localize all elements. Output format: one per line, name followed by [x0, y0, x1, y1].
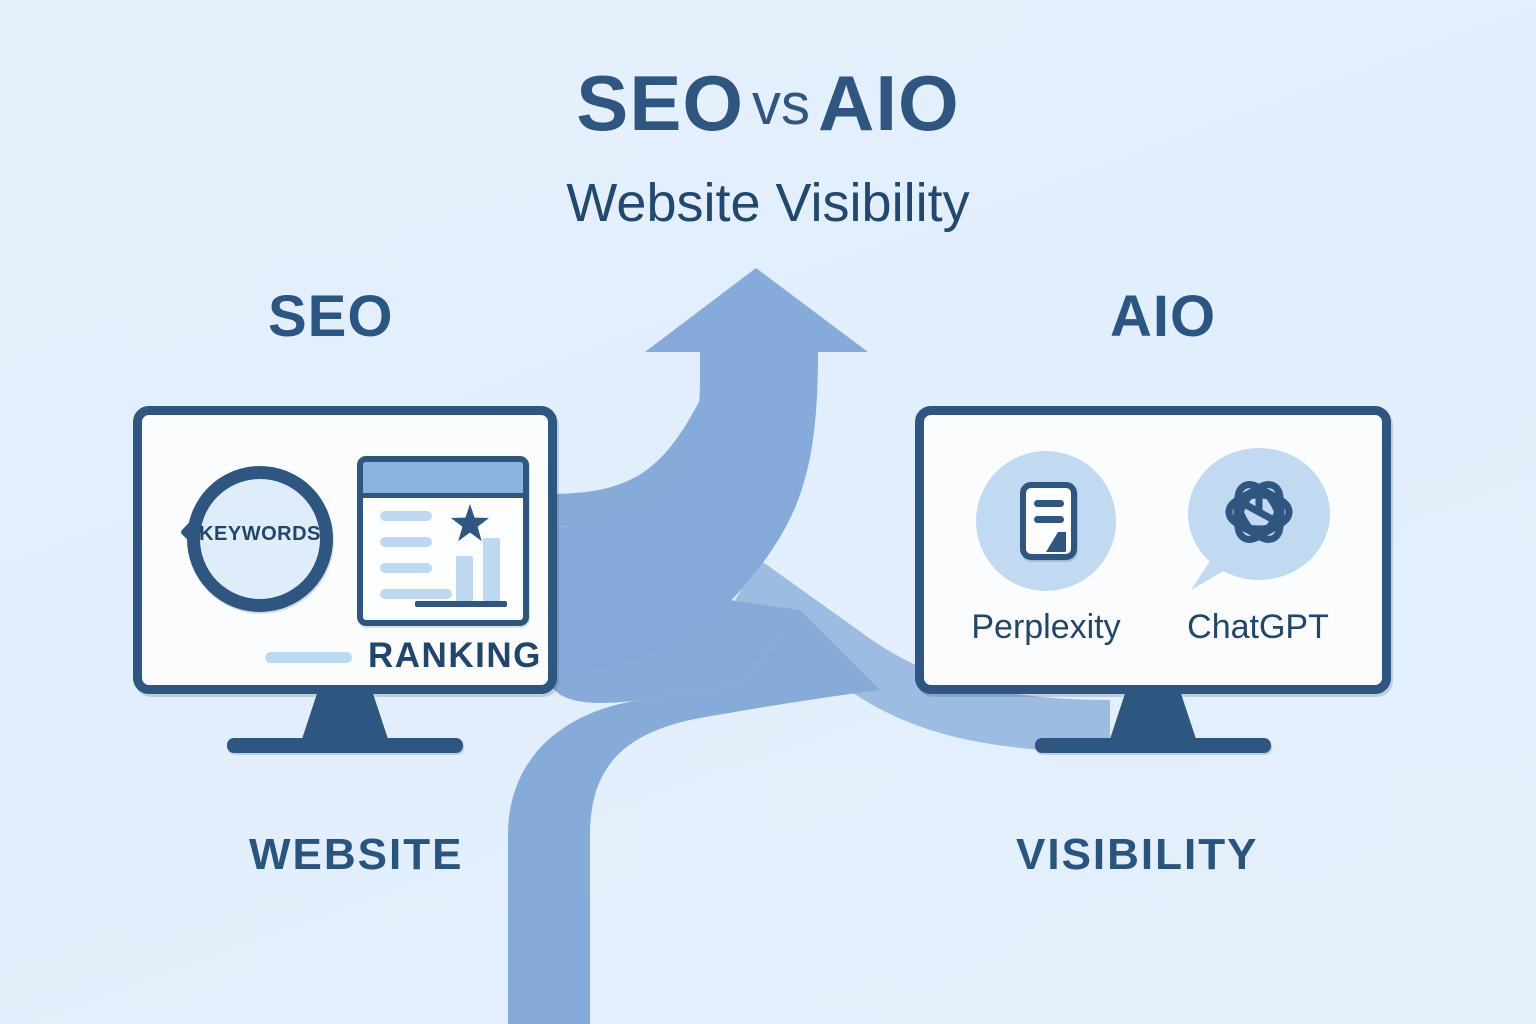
aio-screen-content: Perplexity [933, 424, 1391, 694]
aio-monitor-screen: Perplexity [915, 406, 1391, 694]
monitor-stand-base [227, 738, 463, 753]
chart-bar [483, 538, 500, 602]
perplexity-item: Perplexity [961, 446, 1131, 647]
chart-baseline [415, 601, 507, 607]
footer-label-website: WEBSITE [249, 830, 463, 880]
monitor-stand-neck [1109, 694, 1197, 742]
chatgpt-item: ChatGPT [1173, 446, 1343, 647]
browser-title-bar [363, 462, 523, 498]
title-seo: SEO [576, 59, 744, 147]
perplexity-badge [971, 446, 1121, 596]
infographic-canvas: SEOvsAIO Website Visibility SEO AIO KEYW… [0, 0, 1536, 1024]
column-label-seo: SEO [268, 283, 394, 350]
chatgpt-openai-logo-icon [1209, 466, 1309, 566]
content-line [380, 511, 432, 521]
browser-window-graphic [357, 456, 529, 626]
chart-bar [456, 556, 473, 602]
aio-monitor: Perplexity [915, 406, 1391, 766]
document-line [1034, 516, 1064, 523]
title-aio: AIO [818, 59, 960, 147]
content-line [380, 589, 452, 599]
title-vs: vs [744, 72, 818, 137]
chatgpt-badge [1183, 446, 1333, 596]
keywords-label: KEYWORDS [187, 523, 333, 546]
seo-monitor-screen: KEYWORDS RANKING [133, 406, 557, 694]
page-subtitle: Website Visibility [0, 172, 1536, 234]
content-line [265, 652, 352, 663]
magnifying-glass-icon: KEYWORDS [165, 466, 333, 656]
star-icon [451, 504, 489, 542]
footer-label-visibility: VISIBILITY [1016, 830, 1258, 880]
content-line [380, 537, 432, 547]
browser-body [363, 498, 523, 626]
page-title: SEOvsAIO [0, 58, 1536, 149]
monitor-stand-base [1035, 738, 1271, 753]
document-line [1034, 500, 1064, 507]
column-label-aio: AIO [1110, 283, 1216, 350]
monitor-stand-neck [301, 694, 389, 742]
perplexity-document-icon [1020, 482, 1077, 560]
ranking-label: RANKING [368, 636, 542, 676]
document-corner-mark [1046, 532, 1066, 552]
seo-monitor: KEYWORDS RANKING [133, 406, 557, 766]
content-line [380, 563, 432, 573]
seo-screen-content: KEYWORDS RANKING [151, 424, 557, 694]
chatgpt-caption: ChatGPT [1173, 608, 1343, 647]
perplexity-caption: Perplexity [961, 608, 1131, 647]
